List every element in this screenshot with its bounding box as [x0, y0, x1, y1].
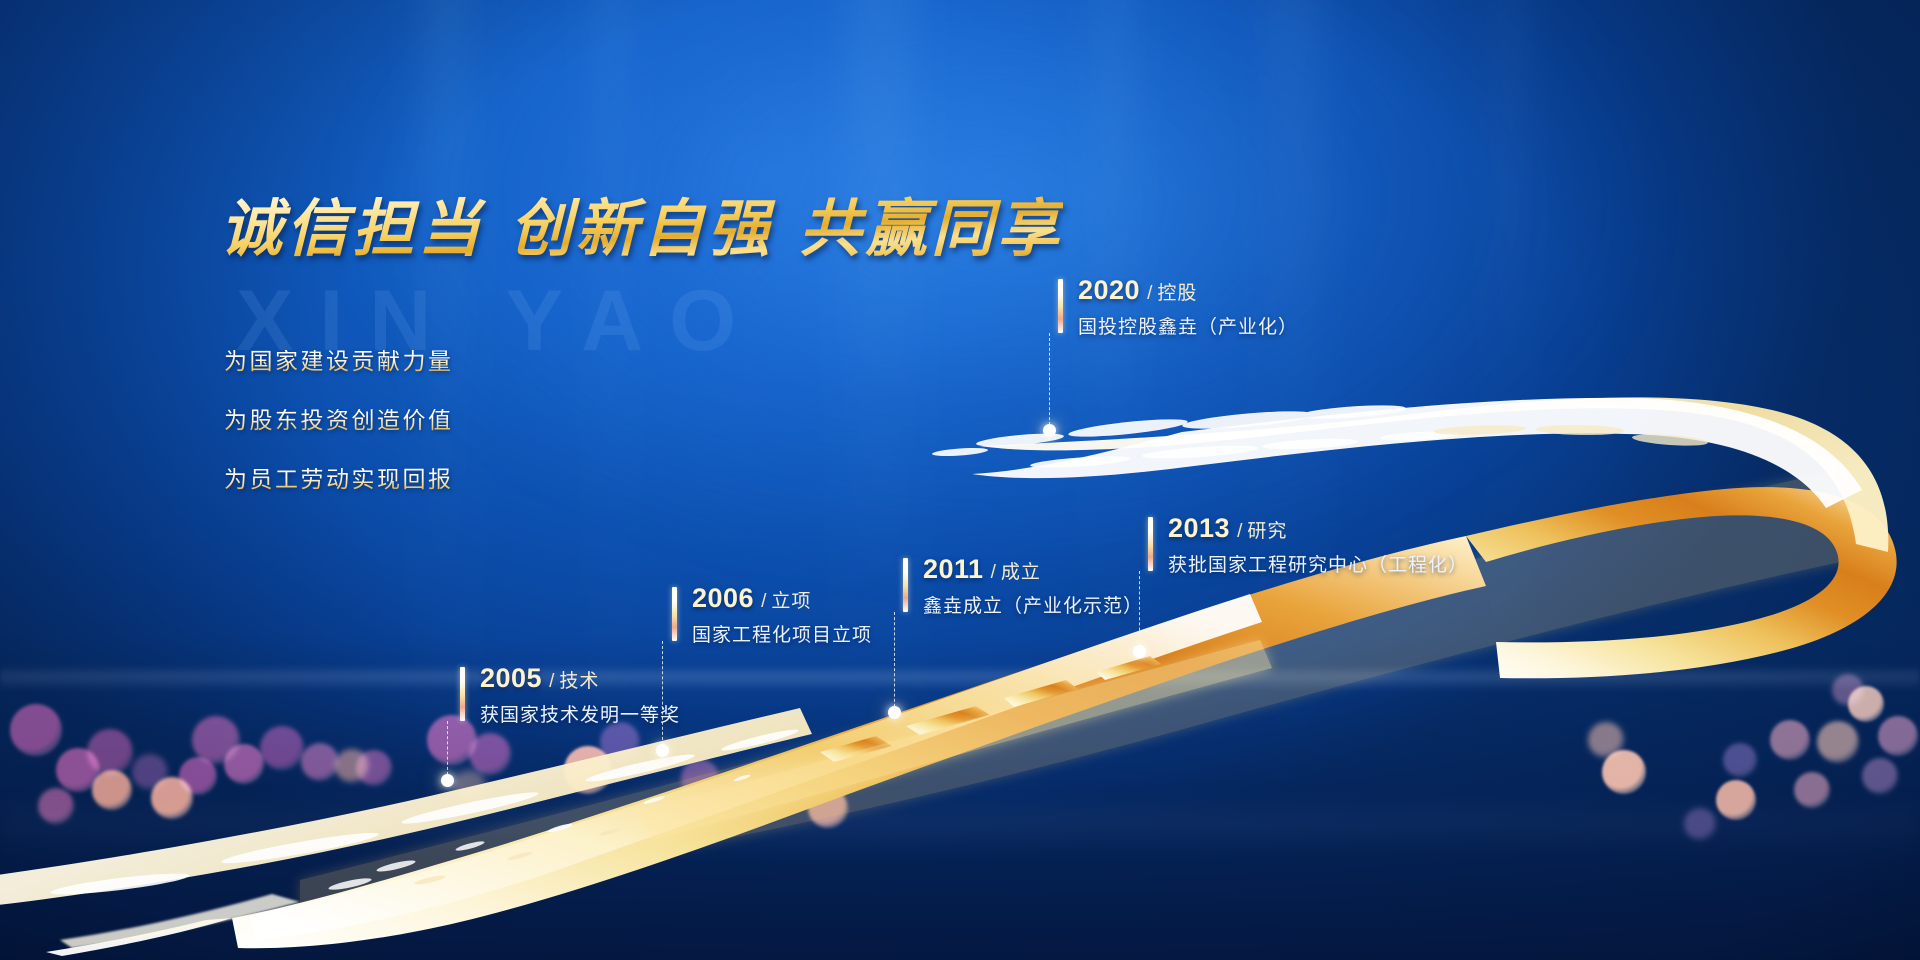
banner-stage: XIN YAO 诚信担当 创新自强 共赢同享 为国家建设贡献力量 为股东投资创造…	[0, 0, 1920, 960]
page-title: 诚信担当 创新自强 共赢同享	[220, 196, 1063, 261]
milestone-category: 控股	[1157, 278, 1197, 305]
milestone-leader-line	[1139, 571, 1140, 651]
milestone-heading: 2005/技术	[480, 665, 680, 693]
milestone-category: 研究	[1247, 516, 1287, 543]
milestone-accent-bar	[1148, 517, 1153, 571]
milestone-accent-bar	[672, 587, 677, 641]
milestone-separator: /	[549, 671, 554, 693]
milestone-text: 2011/成立鑫垚成立（产业化示范）	[923, 556, 1143, 616]
milestone-leader-line	[662, 641, 663, 750]
milestone-separator: /	[761, 591, 766, 613]
milestone-separator: /	[1147, 283, 1152, 305]
milestone-year: 2013	[1168, 515, 1230, 542]
milestone-category: 立项	[771, 586, 811, 613]
milestone-separator: /	[1237, 521, 1242, 543]
milestone-leader-line	[447, 721, 448, 780]
milestone-description: 获国家技术发明一等奖	[480, 706, 680, 725]
milestone-separator: /	[991, 562, 996, 584]
milestone-description: 国投控股鑫垚（产业化）	[1078, 318, 1298, 337]
milestone-text: 2020/控股国投控股鑫垚（产业化）	[1078, 277, 1298, 337]
milestone-year: 2005	[480, 665, 542, 692]
subtitle-line-1: 为国家建设贡献力量	[224, 350, 454, 373]
milestone-dot[interactable]	[888, 706, 901, 719]
milestone-dot[interactable]	[1133, 645, 1146, 658]
milestone-category: 成立	[1001, 557, 1041, 584]
subtitle-list: 为国家建设贡献力量 为股东投资创造价值 为员工劳动实现回报	[224, 350, 454, 491]
milestone-dot[interactable]	[1043, 424, 1056, 437]
milestone-description: 国家工程化项目立项	[692, 626, 872, 645]
milestone-year: 2011	[923, 556, 984, 583]
milestone-text: 2006/立项国家工程化项目立项	[692, 585, 872, 645]
milestone-leader-line	[1049, 333, 1050, 430]
milestone-accent-bar	[460, 667, 465, 721]
milestone-description: 获批国家工程研究中心（工程化）	[1168, 556, 1468, 575]
milestone-accent-bar	[903, 558, 908, 612]
milestone-dot[interactable]	[656, 744, 669, 757]
milestone-heading: 2013/研究	[1168, 515, 1468, 543]
subtitle-line-2: 为股东投资创造价值	[224, 409, 454, 432]
milestone-description: 鑫垚成立（产业化示范）	[923, 597, 1143, 616]
milestone-heading: 2020/控股	[1078, 277, 1298, 305]
milestone-text: 2005/技术获国家技术发明一等奖	[480, 665, 680, 725]
milestone-category: 技术	[559, 666, 599, 693]
milestone-dot[interactable]	[441, 774, 454, 787]
milestone-year: 2020	[1078, 277, 1140, 304]
milestone-year: 2006	[692, 585, 754, 612]
milestone-heading: 2006/立项	[692, 585, 872, 613]
milestone-text: 2013/研究获批国家工程研究中心（工程化）	[1168, 515, 1468, 575]
milestone-accent-bar	[1058, 279, 1063, 333]
milestone-heading: 2011/成立	[923, 556, 1143, 584]
subtitle-line-3: 为员工劳动实现回报	[224, 468, 454, 491]
milestone-leader-line	[894, 612, 895, 712]
